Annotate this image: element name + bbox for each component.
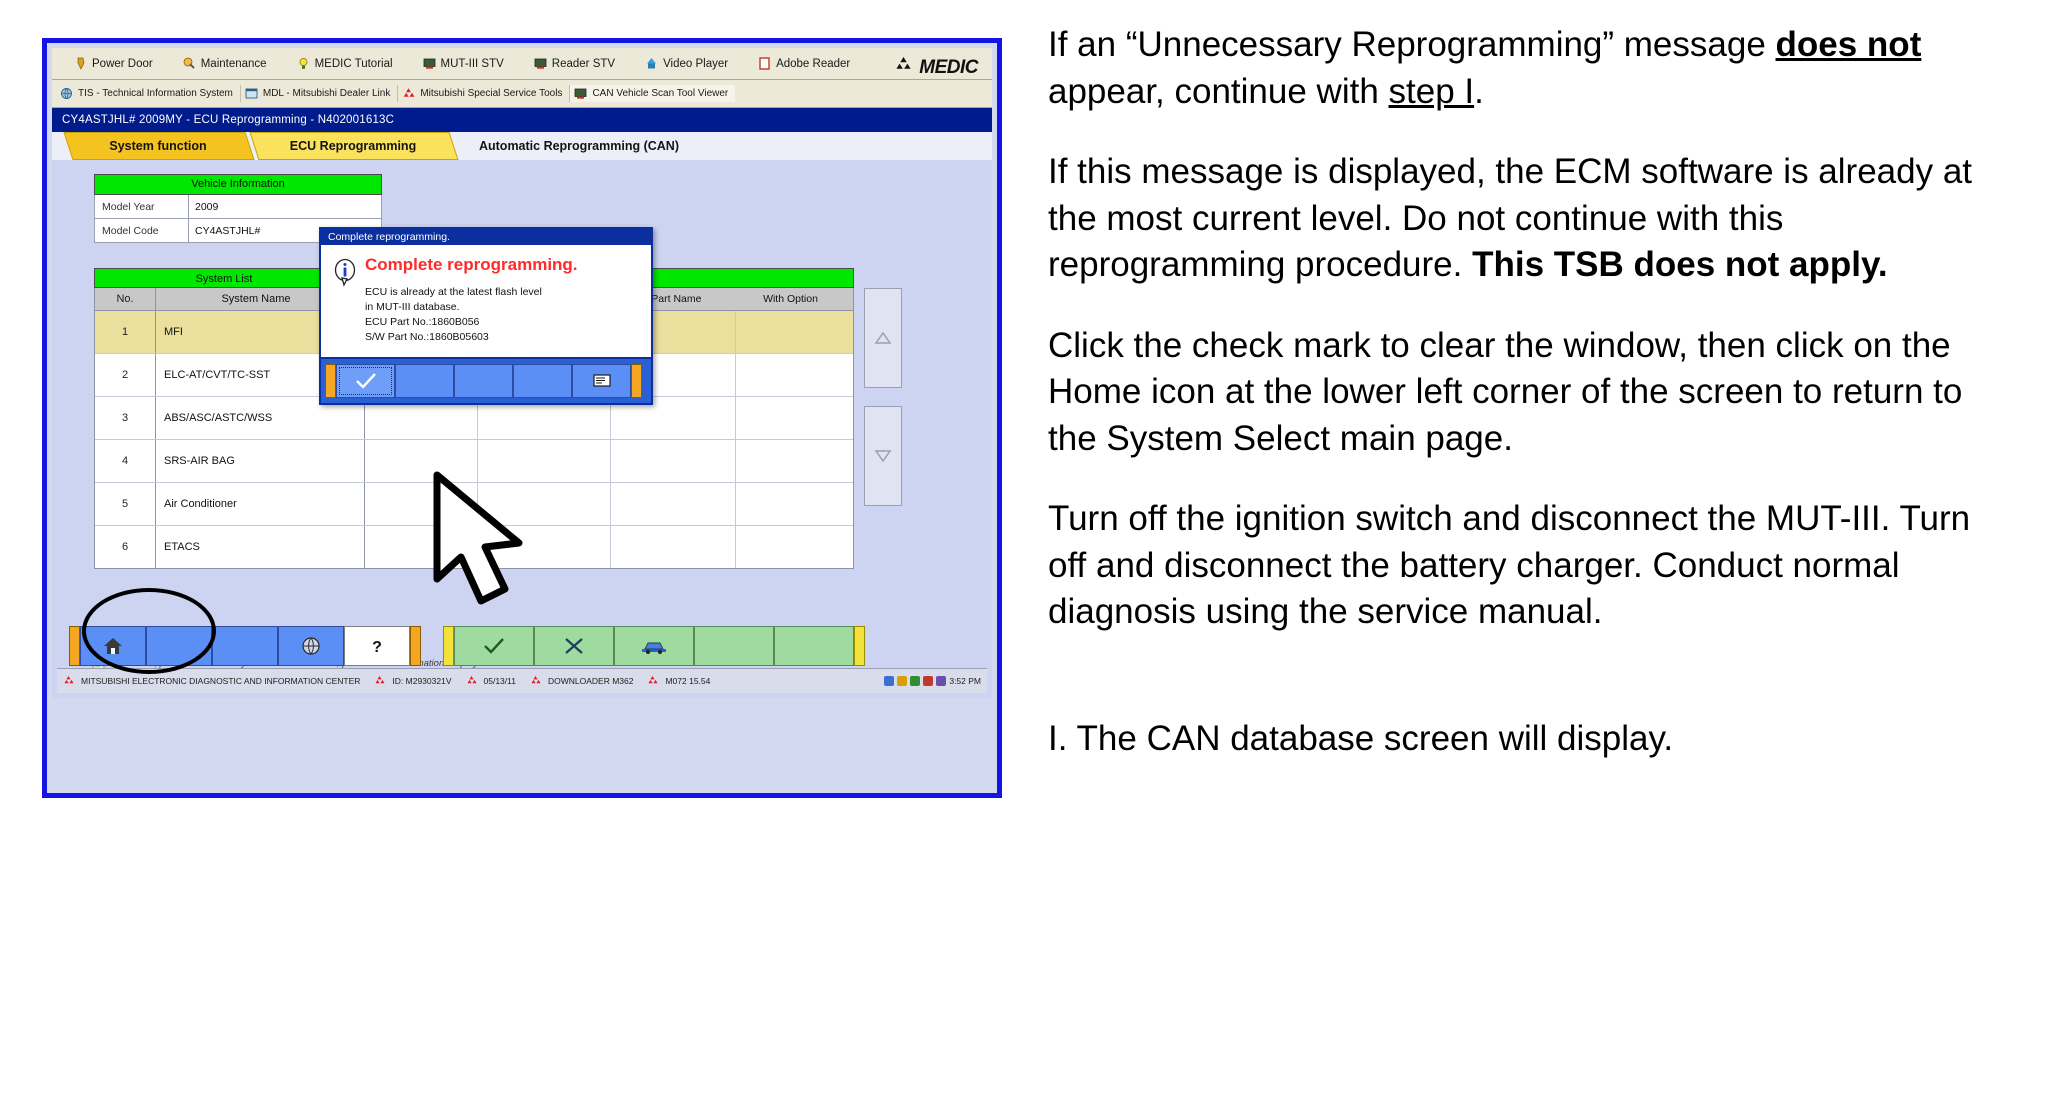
field-value: 2009: [189, 195, 381, 218]
home-button-highlight-ellipse: [82, 588, 216, 674]
mitsubishi-icon: [63, 675, 76, 688]
tray-icon[interactable]: [936, 676, 946, 686]
monitor-icon: [574, 87, 587, 100]
status-brand: MITSUBISHI ELECTRONIC DIAGNOSTIC AND INF…: [63, 675, 360, 688]
world-button[interactable]: [278, 626, 344, 666]
toolbar-label: Power Door: [92, 58, 153, 70]
status-id: ID: M2930321V: [374, 675, 451, 688]
toolbar-item-tis[interactable]: TIS - Technical Information System: [56, 85, 241, 102]
group-cap-yellow: [443, 626, 454, 666]
toolbar-label: Video Player: [663, 58, 728, 70]
cell-with-option: [736, 483, 853, 525]
toolbar-item-reader-stv[interactable]: Reader STV: [534, 57, 615, 70]
bottom-right-button-5[interactable]: [774, 626, 854, 666]
brand-text: MEDIC: [919, 57, 978, 79]
check-icon: [355, 372, 377, 390]
mitsubishi-triple-diamond-icon: [894, 56, 913, 79]
power-door-icon: [74, 57, 87, 70]
field-label: Model Year: [95, 195, 189, 218]
svg-text:?: ?: [372, 639, 382, 656]
instruction-paragraph-1: If an “Unnecessary Reprogramming” messag…: [1048, 22, 2018, 115]
cell-no: 1: [95, 311, 156, 353]
dialog-button-bar: [321, 357, 651, 403]
application-window: Power Door Maintenance MEDIC Tutorial MU…: [42, 38, 1002, 798]
toolbar-label: MEDIC Tutorial: [315, 58, 393, 70]
tray-icon[interactable]: [897, 676, 907, 686]
cell-no: 4: [95, 440, 156, 482]
tray-icon[interactable]: [923, 676, 933, 686]
cross-icon: [563, 636, 585, 656]
group-cap: [325, 364, 336, 398]
scroll-down-button[interactable]: [864, 406, 902, 506]
tab-system-function[interactable]: System function: [68, 132, 248, 160]
cell-system-name: Air Conditioner: [156, 483, 365, 525]
text-run: If an “Unnecessary Reprogramming” messag…: [1048, 25, 1776, 64]
cell-system-name: SRS-AIR BAG: [156, 440, 365, 482]
mitsubishi-icon: [374, 675, 387, 688]
help-icon: ?: [367, 636, 387, 656]
group-cap: [631, 364, 642, 398]
monitor-icon: [423, 57, 436, 70]
tab-automatic-reprogramming-can[interactable]: Automatic Reprogramming (CAN): [458, 132, 700, 160]
toolbar-item-medic-tutorial[interactable]: MEDIC Tutorial: [297, 57, 393, 70]
tray-icon[interactable]: [884, 676, 894, 686]
status-text: ID: M2930321V: [392, 676, 451, 686]
mut3-screenshot: Power Door Maintenance MEDIC Tutorial MU…: [42, 38, 1002, 798]
ok-button[interactable]: [454, 626, 534, 666]
group-cap-yellow: [854, 626, 865, 666]
toolbar-item-mut3-stv[interactable]: MUT-III STV: [423, 57, 504, 70]
dialog-button-3[interactable]: [454, 364, 513, 398]
instruction-paragraph-5: I. The CAN database screen will display.: [1048, 716, 2018, 763]
monitor-icon: [534, 57, 547, 70]
instruction-paragraph-2: If this message is displayed, the ECM so…: [1048, 149, 2018, 289]
toolbar-label: Adobe Reader: [776, 58, 850, 70]
instruction-paragraph-3: Click the check mark to clear the window…: [1048, 323, 2018, 463]
toolbar-label: TIS - Technical Information System: [78, 88, 233, 99]
cell-with-option: [736, 397, 853, 439]
dialog-line-ecu-part-no: ECU Part No.:1860B056: [365, 315, 641, 330]
cell-no: 2: [95, 354, 156, 396]
tutorial-bulb-icon: [297, 57, 310, 70]
dialog-headline: Complete reprogramming.: [365, 255, 641, 275]
vehicle-information-header: Vehicle Information: [94, 174, 382, 195]
system-tray: 3:52 PM: [884, 676, 987, 686]
text-run-bold: This TSB does not apply.: [1472, 245, 1888, 284]
window-icon: [245, 87, 258, 100]
dialog-button-4[interactable]: [513, 364, 572, 398]
chevron-down-icon: [874, 448, 892, 464]
toolbar-primary: Power Door Maintenance MEDIC Tutorial MU…: [52, 48, 992, 80]
status-bar: MITSUBISHI ELECTRONIC DIAGNOSTIC AND INF…: [57, 668, 987, 693]
mitsubishi-icon: [402, 87, 415, 100]
cell-with-option: [736, 526, 853, 568]
help-button[interactable]: ?: [344, 626, 410, 666]
mitsubishi-icon: [647, 675, 660, 688]
ok-check-button[interactable]: [336, 364, 395, 398]
tab-label: Automatic Reprogramming (CAN): [479, 139, 679, 153]
cell-sw-part-name: [611, 483, 736, 525]
check-icon: [482, 636, 506, 656]
toolbar-label: CAN Vehicle Scan Tool Viewer: [592, 88, 728, 99]
mouse-cursor: [429, 471, 549, 626]
text-run: .: [1474, 72, 1484, 111]
bottom-right-button-4[interactable]: [694, 626, 774, 666]
status-text: DOWNLOADER M362: [548, 676, 634, 686]
window-title-text: CY4ASTJHL# 2009MY - ECU Reprogramming - …: [62, 114, 394, 126]
dialog-title-text: Complete reprogramming.: [328, 231, 450, 243]
cell-sw-part-name: [611, 440, 736, 482]
info-icon: [331, 255, 365, 345]
tab-label: System function: [109, 139, 206, 153]
tab-label: ECU Reprogramming: [290, 139, 416, 153]
bottom-button-3[interactable]: [212, 626, 278, 666]
toolbar-item-mdl[interactable]: MDL - Mitsubishi Dealer Link: [241, 85, 398, 102]
group-cap: [410, 626, 421, 666]
globe-icon: [301, 636, 321, 656]
vehicle-row-model-year: Model Year 2009: [94, 195, 382, 219]
toolbar-label: MUT-III STV: [441, 58, 504, 70]
dialog-line-sw-part-no: S/W Part No.:1860B05603: [365, 330, 641, 345]
print-icon: [592, 372, 612, 389]
toolbar-item-can-viewer[interactable]: CAN Vehicle Scan Tool Viewer: [570, 85, 735, 102]
dialog-text-block: Complete reprogramming. ECU is already a…: [365, 255, 641, 345]
text-run: appear, continue with: [1048, 72, 1389, 111]
adobe-reader-icon: [758, 57, 771, 70]
list-scrollbar[interactable]: [864, 288, 900, 628]
maintenance-icon: [183, 57, 196, 70]
instruction-paragraph-4: Turn off the ignition switch and disconn…: [1048, 496, 2018, 636]
dialog-line-1: ECU is already at the latest flash level: [365, 285, 641, 300]
status-text: 05/13/11: [484, 676, 516, 686]
car-icon: [640, 637, 668, 655]
toolbar-label: Maintenance: [201, 58, 267, 70]
toolbar-label: MDL - Mitsubishi Dealer Link: [263, 88, 390, 99]
toolbar-item-special-service-tools[interactable]: Mitsubishi Special Service Tools: [398, 85, 570, 102]
toolbar-secondary: TIS - Technical Information System MDL -…: [52, 80, 992, 108]
dialog-button-2[interactable]: [395, 364, 454, 398]
tab-ecu-reprogramming[interactable]: ECU Reprogramming: [254, 132, 452, 160]
dialog-title-bar: Complete reprogramming.: [321, 229, 651, 245]
status-version: M072 15.54: [647, 675, 710, 688]
group-cap: [69, 626, 80, 666]
globe-icon: [60, 87, 73, 100]
cell-no: 3: [95, 397, 156, 439]
clock-text: 3:52 PM: [949, 676, 981, 686]
column-header-with-option: With Option: [728, 288, 853, 310]
instruction-text-column: If an “Unnecessary Reprogramming” messag…: [1048, 22, 2018, 797]
cell-with-option: [736, 311, 853, 353]
field-label: Model Code: [95, 219, 189, 242]
toolbar-item-adobe-reader[interactable]: Adobe Reader: [758, 57, 850, 70]
column-header-no: No.: [95, 288, 156, 310]
cell-sw-part-name: [611, 526, 736, 568]
cell-no: 5: [95, 483, 156, 525]
text-run-bold-underline: does not: [1776, 25, 1922, 64]
complete-reprogramming-dialog: Complete reprogramming. Complete reprogr…: [319, 227, 653, 405]
dialog-body: Complete reprogramming. ECU is already a…: [321, 245, 651, 357]
text-run-underline: step I: [1389, 72, 1475, 111]
toolbar-item-power-door[interactable]: Power Door: [74, 57, 153, 70]
cell-system-name: ETACS: [156, 526, 365, 568]
cell-with-option: [736, 354, 853, 396]
status-downloader: DOWNLOADER M362: [530, 675, 634, 688]
cell-with-option: [736, 440, 853, 482]
dialog-line-2: in MUT-III database.: [365, 300, 641, 315]
medic-brand-logo: MEDIC: [894, 56, 978, 79]
status-text: MITSUBISHI ELECTRONIC DIAGNOSTIC AND INF…: [81, 676, 360, 686]
toolbar-label: Reader STV: [552, 58, 615, 70]
toolbar-item-maintenance[interactable]: Maintenance: [183, 57, 267, 70]
video-player-icon: [645, 57, 658, 70]
cell-no: 6: [95, 526, 156, 568]
window-title-bar: CY4ASTJHL# 2009MY - ECU Reprogramming - …: [52, 108, 992, 132]
print-button[interactable]: [572, 364, 631, 398]
status-text: M072 15.54: [665, 676, 710, 686]
scroll-up-button[interactable]: [864, 288, 902, 388]
bottom-right-button-group: [443, 626, 865, 666]
status-date: 05/13/11: [466, 675, 516, 688]
mitsubishi-icon: [530, 675, 543, 688]
breadcrumb-tabs: System function ECU Reprogramming Automa…: [52, 132, 992, 160]
toolbar-label: Mitsubishi Special Service Tools: [420, 88, 562, 99]
system-list-header: System List: [94, 268, 354, 288]
toolbar-item-video-player[interactable]: Video Player: [645, 57, 728, 70]
chevron-up-icon: [874, 330, 892, 346]
cancel-button[interactable]: [534, 626, 614, 666]
tray-icon[interactable]: [910, 676, 920, 686]
mitsubishi-icon: [466, 675, 479, 688]
vehicle-button[interactable]: [614, 626, 694, 666]
